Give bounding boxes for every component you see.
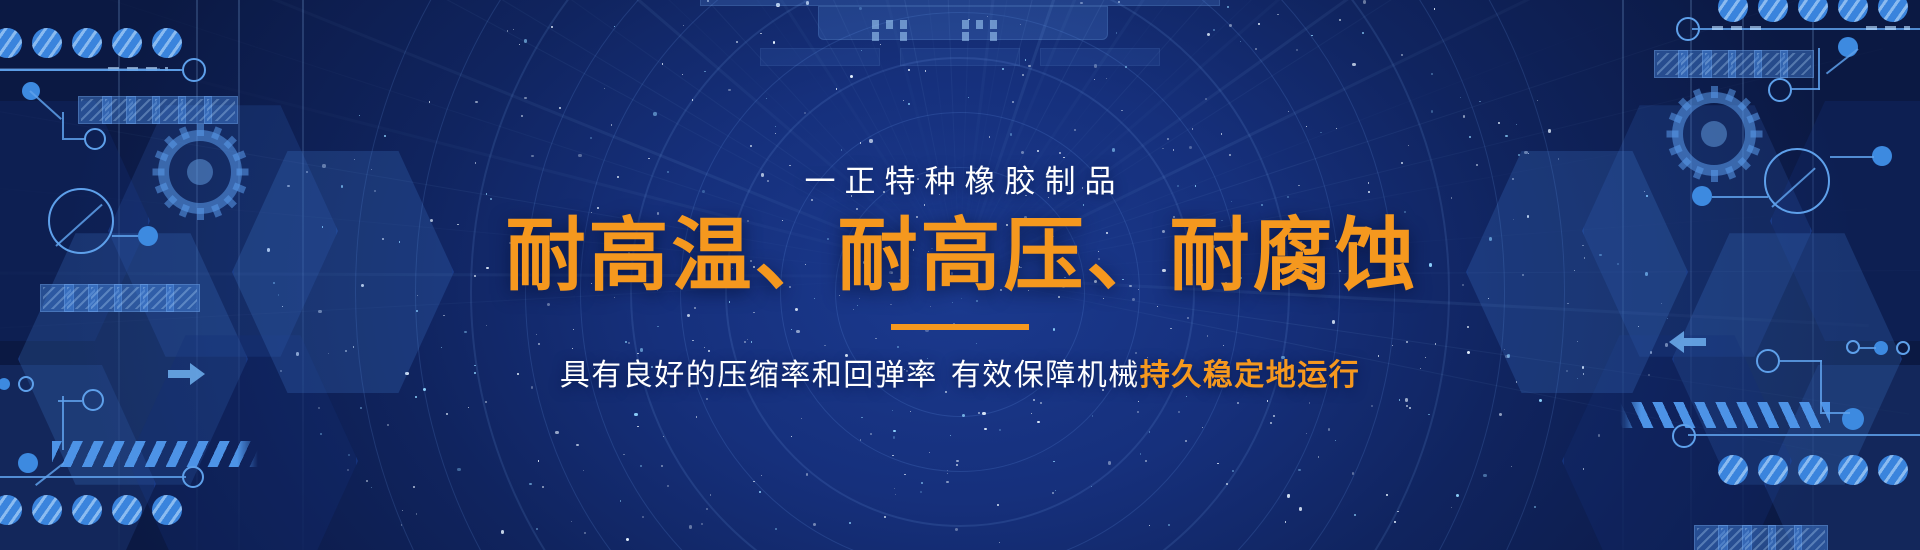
accent-divider <box>891 324 1029 330</box>
tagline-part-b: 有效保障机械 <box>951 359 1140 392</box>
hero-copy: 一正特种橡胶制品 耐高温、耐高压、耐腐蚀 具有良好的压缩率和回弹率有效保障机械持… <box>0 0 1920 550</box>
page-title: 耐高温、耐高压、耐腐蚀 <box>502 211 1419 301</box>
tagline-part-a: 具有良好的压缩率和回弹率 <box>560 359 938 392</box>
tagline: 具有良好的压缩率和回弹率有效保障机械持久稳定地运行 <box>560 350 1361 394</box>
tagline-highlight: 持久稳定地运行 <box>1140 359 1361 392</box>
hero-banner: 一正特种橡胶制品 耐高温、耐高压、耐腐蚀 具有良好的压缩率和回弹率有效保障机械持… <box>0 0 1920 550</box>
eyebrow-text: 一正特种橡胶制品 <box>796 156 1125 201</box>
